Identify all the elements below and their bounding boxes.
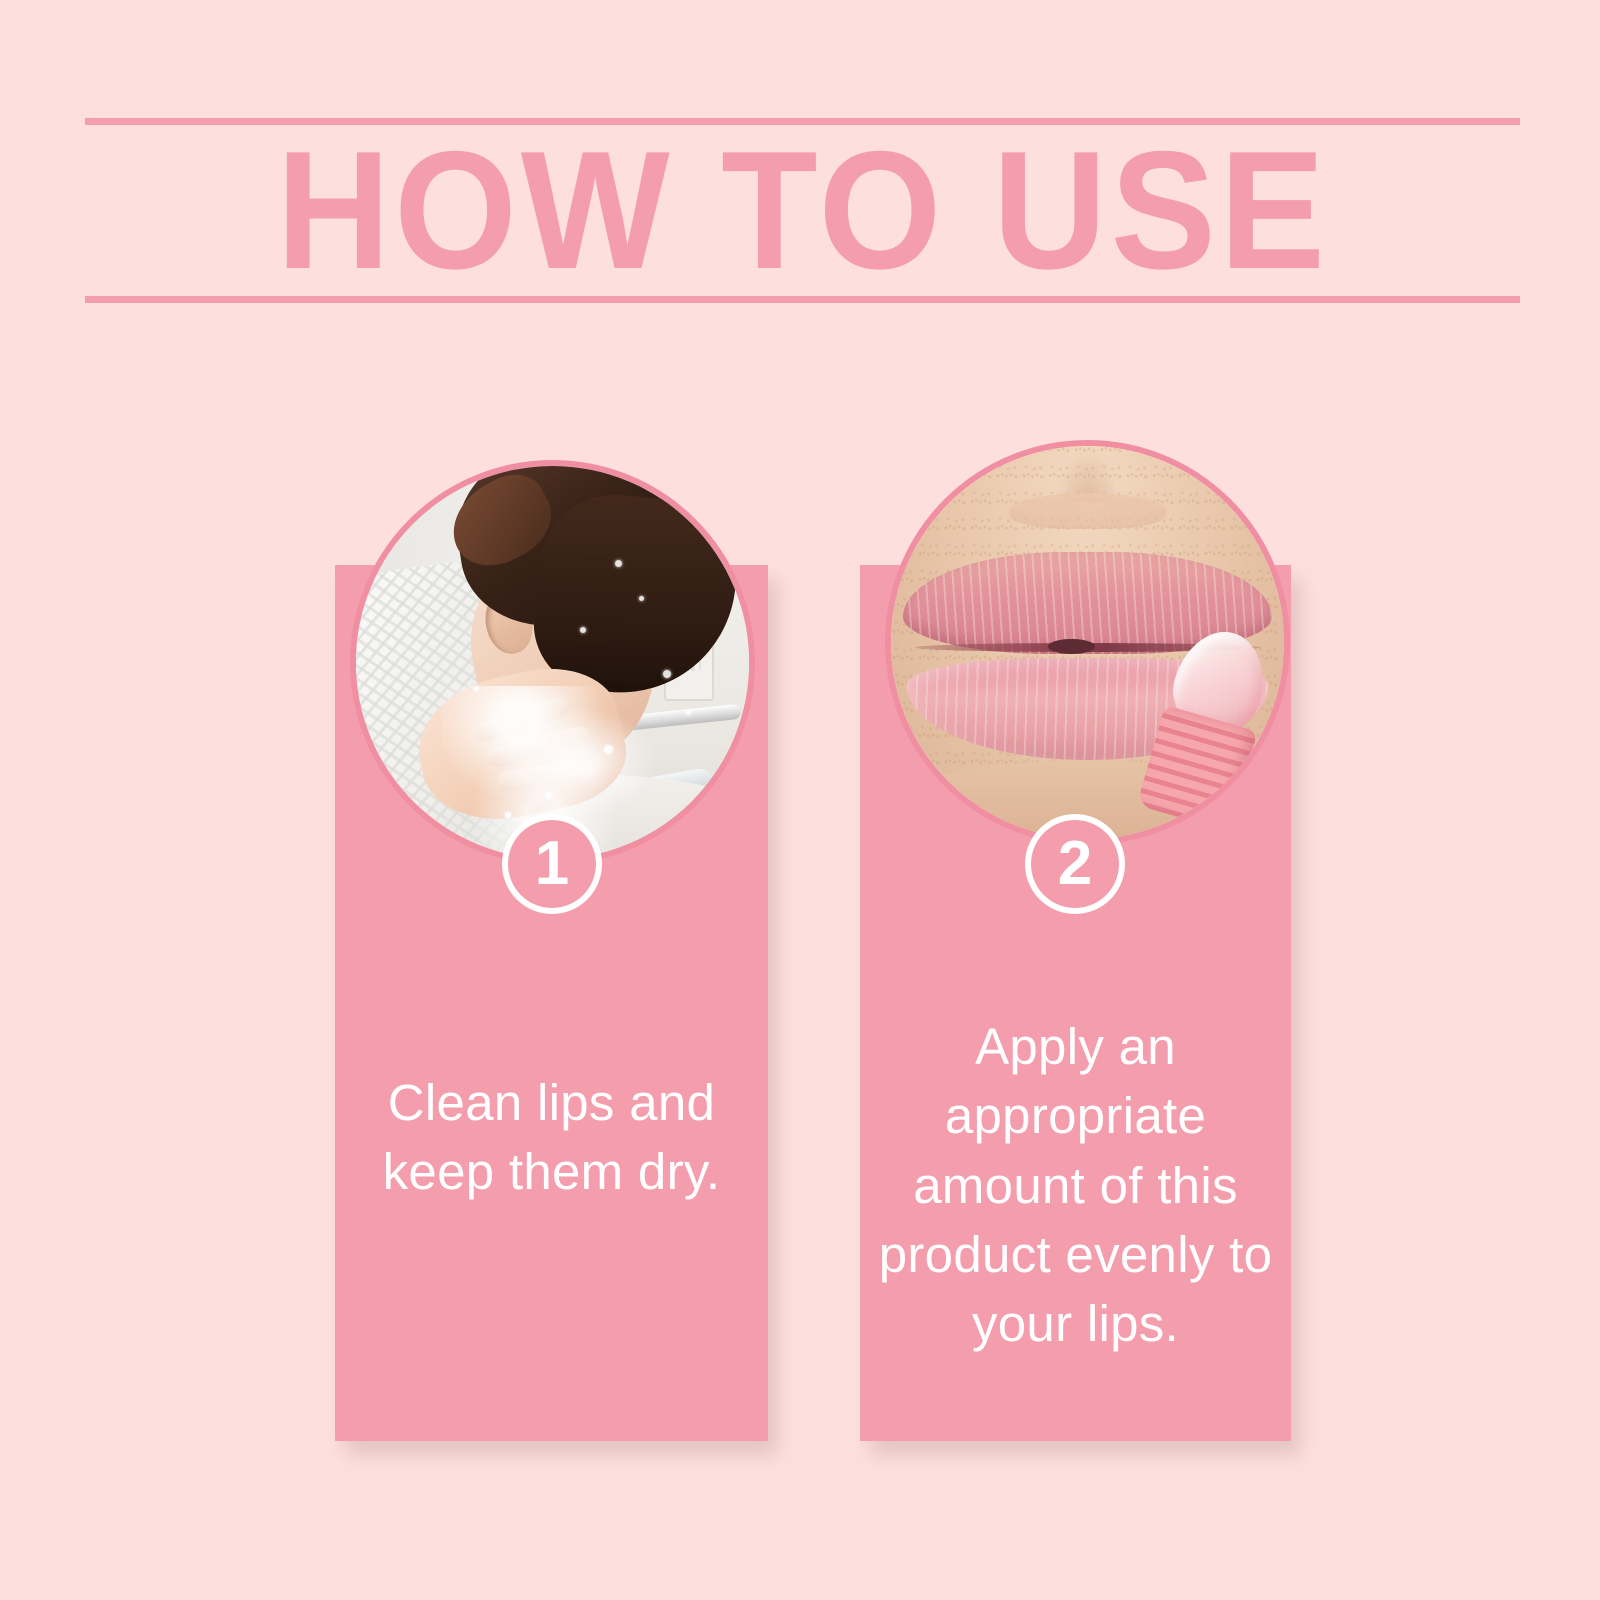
step-number-badge-2: 2 xyxy=(1025,814,1125,914)
header-rule-bottom xyxy=(85,296,1520,303)
how-to-use-infographic: HOW TO USE Clean lips and keep them dry. xyxy=(0,0,1600,1600)
washing-face-photo xyxy=(350,460,755,865)
washing-face-artwork xyxy=(356,466,749,859)
lips-applicator-artwork xyxy=(891,446,1284,839)
step-caption-1: Clean lips and keep them dry. xyxy=(341,1068,762,1207)
step-caption-2: Apply an appropriate amount of this prod… xyxy=(868,1012,1283,1359)
page-title: HOW TO USE xyxy=(128,130,1477,290)
lips-applicator-photo xyxy=(885,440,1290,845)
step-number-badge-1: 1 xyxy=(502,814,602,914)
